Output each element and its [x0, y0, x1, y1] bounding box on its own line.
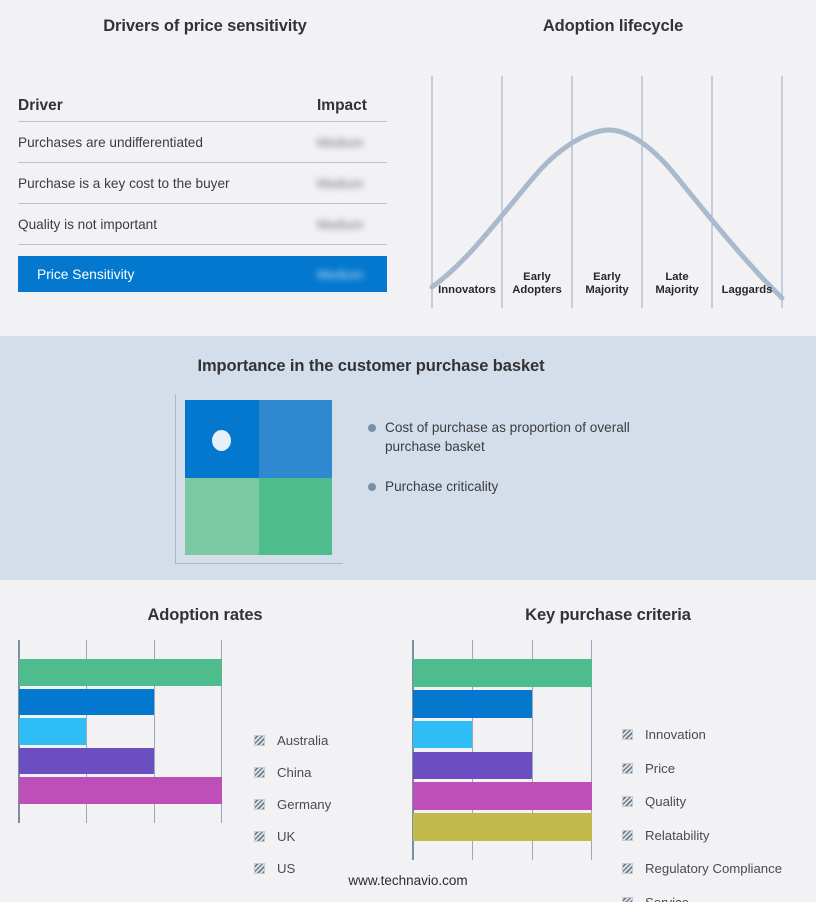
bullet-icon: [368, 424, 376, 432]
key-purchase-criteria-panel: Key purchase criteria InnovationPriceQua…: [400, 580, 816, 902]
summary-label: Price Sensitivity: [37, 267, 134, 282]
legend-item: Germany: [254, 788, 331, 820]
adoption-rates-title: Adoption rates: [0, 606, 410, 625]
chart-bar: [413, 659, 592, 687]
adoption-lifecycle-title: Adoption lifecycle: [410, 17, 816, 36]
price-sensitivity-summary-row: Price Sensitivity Medium: [18, 256, 387, 292]
legend-item: Innovation: [622, 718, 782, 752]
adoption-curve: [432, 130, 782, 298]
column-header-driver: Driver: [18, 97, 63, 115]
criteria-plot-area: [412, 640, 592, 860]
hatched-square-icon: [622, 796, 633, 807]
importance-panel: Importance in the customer purchase bask…: [0, 336, 816, 580]
summary-impact-value: Medium: [317, 267, 387, 282]
legend-label: Purchase criticality: [385, 477, 498, 496]
quadrant-chart: [185, 400, 332, 555]
hatched-square-icon: [254, 799, 265, 810]
legend-label: Germany: [277, 797, 331, 812]
legend-label: Service: [645, 895, 689, 902]
adoption-lifecycle-chart: [410, 60, 816, 310]
importance-title: Importance in the customer purchase bask…: [0, 357, 742, 376]
quadrant-bottom-left: [185, 478, 259, 556]
quadrant-top-right: [259, 400, 333, 478]
hatched-square-icon: [622, 830, 633, 841]
hatched-square-icon: [622, 897, 633, 902]
hatched-square-icon: [254, 767, 265, 778]
chart-bar: [19, 748, 154, 775]
legend-item: Australia: [254, 724, 331, 756]
chart-bar: [413, 690, 532, 718]
hatched-square-icon: [254, 735, 265, 746]
table-row: Quality is not important Medium: [18, 204, 387, 245]
legend-label: China: [277, 765, 311, 780]
adoption-rates-panel: Adoption rates AustraliaChinaGermanyUKUS: [0, 580, 410, 902]
chart-bar: [413, 782, 592, 810]
driver-impact-value: Medium: [317, 135, 387, 150]
quadrant-y-axis: [175, 394, 176, 564]
hatched-square-icon: [254, 863, 265, 874]
chart-bar: [19, 777, 222, 804]
legend-item: China: [254, 756, 331, 788]
legend-label: Cost of purchase as proportion of overal…: [385, 418, 645, 456]
chart-bar: [19, 718, 86, 745]
quadrant-x-axis: [175, 563, 343, 564]
hatched-square-icon: [622, 729, 633, 740]
chart-bar: [413, 813, 592, 841]
infographic-page: Drivers of price sensitivity Driver Impa…: [0, 0, 816, 902]
table-row: Purchase is a key cost to the buyer Medi…: [18, 163, 387, 204]
legend-label: Quality: [645, 794, 686, 809]
importance-legend: Cost of purchase as proportion of overal…: [368, 418, 668, 517]
driver-impact-value: Medium: [317, 217, 387, 232]
hatched-square-icon: [254, 831, 265, 842]
drivers-panel: Drivers of price sensitivity Driver Impa…: [0, 0, 410, 336]
legend-label: Australia: [277, 733, 328, 748]
legend-label: Price: [645, 761, 675, 776]
driver-name: Quality is not important: [18, 217, 157, 232]
legend-item: Relatability: [622, 819, 782, 853]
driver-impact-value: Medium: [317, 176, 387, 191]
legend-label: UK: [277, 829, 295, 844]
adoption-rates-legend: AustraliaChinaGermanyUKUS: [254, 724, 331, 884]
drivers-table: Driver Impact Purchases are undifferenti…: [18, 90, 387, 292]
chart-bar: [19, 659, 222, 686]
driver-name: Purchases are undifferentiated: [18, 135, 203, 150]
bullet-icon: [368, 483, 376, 491]
adoption-rates-chart: AustraliaChinaGermanyUKUS: [18, 640, 222, 823]
legend-item: Purchase criticality: [368, 477, 668, 496]
legend-item: Price: [622, 752, 782, 786]
quadrant-bottom-right: [259, 478, 333, 556]
legend-label: Innovation: [645, 727, 706, 742]
chart-bar: [19, 689, 154, 716]
chart-bar: [413, 752, 532, 780]
drivers-title: Drivers of price sensitivity: [0, 17, 410, 36]
legend-item: Quality: [622, 785, 782, 819]
legend-item: UK: [254, 820, 331, 852]
key-purchase-criteria-title: Key purchase criteria: [400, 606, 816, 625]
column-header-impact: Impact: [317, 97, 387, 115]
table-row: Purchases are undifferentiated Medium: [18, 122, 387, 163]
footer-url: www.technavio.com: [0, 873, 816, 888]
adoption-plot-area: [18, 640, 222, 823]
table-header-row: Driver Impact: [18, 90, 387, 122]
driver-name: Purchase is a key cost to the buyer: [18, 176, 230, 191]
legend-label: Relatability: [645, 828, 710, 843]
adoption-lifecycle-panel: Adoption lifecycle Innovators Early Adop…: [410, 0, 816, 336]
quadrant-marker-dot: [212, 430, 231, 451]
hatched-square-icon: [622, 763, 633, 774]
quadrant-matrix: [185, 400, 332, 555]
key-purchase-criteria-chart: InnovationPriceQualityRelatabilityRegula…: [412, 640, 592, 860]
legend-item: Cost of purchase as proportion of overal…: [368, 418, 668, 456]
quadrant-top-left: [185, 400, 259, 478]
chart-bar: [413, 721, 472, 749]
